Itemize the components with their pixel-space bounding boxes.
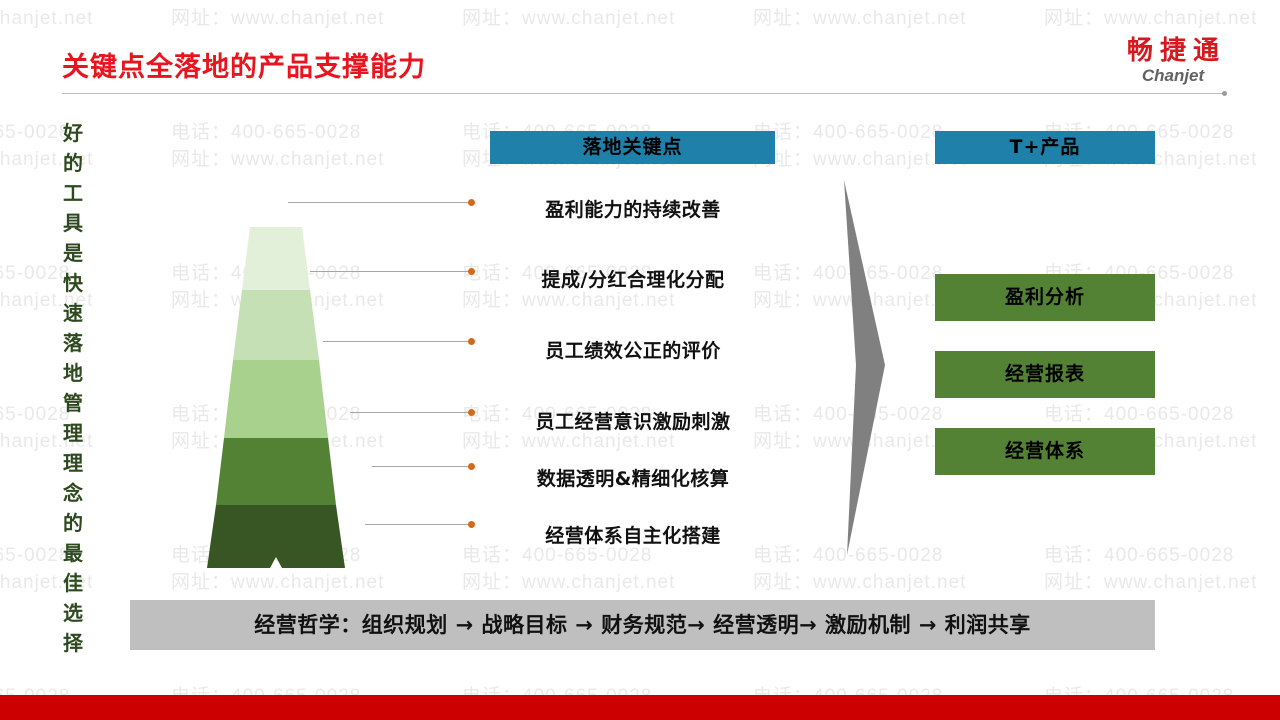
slide-content: 关键点全落地的产品支撑能力 畅捷通 Chanjet 好的工具是快速落地管理理念的… xyxy=(0,0,1280,720)
vertical-caption-char-16: 佳 xyxy=(60,568,86,598)
vertical-caption-char-9: 地 xyxy=(60,358,86,388)
product-box-2: 经营报表 xyxy=(935,351,1155,398)
vertical-caption-char-2: 的 xyxy=(60,148,86,178)
vertical-caption-char-17: 选 xyxy=(60,598,86,628)
bottom-red-bar xyxy=(0,695,1280,720)
connector-line-4 xyxy=(350,412,472,413)
connector-line-1 xyxy=(288,202,472,203)
pyramid-band-5 xyxy=(207,505,345,568)
slide-canvas: 电话：400-665-0028网址：www.chanjet.net电话：400-… xyxy=(0,0,1280,720)
title-divider xyxy=(62,93,1224,94)
logo-cn-text: 畅捷通 xyxy=(1088,36,1258,66)
arrow-shape xyxy=(844,180,885,555)
chanjet-logo: 畅捷通 Chanjet xyxy=(1088,36,1258,86)
vertical-caption-char-1: 好 xyxy=(60,118,86,148)
key-point-4: 员工经营意识激励刺激 xyxy=(488,407,778,434)
pyramid-band-1 xyxy=(242,227,310,290)
flow-arrow xyxy=(820,180,930,580)
connector-dot-4 xyxy=(468,409,475,416)
vertical-caption-char-8: 落 xyxy=(60,328,86,358)
vertical-caption-char-3: 工 xyxy=(60,178,86,208)
connector-line-6 xyxy=(365,524,472,525)
product-box-3: 经营体系 xyxy=(935,428,1155,475)
connector-dot-6 xyxy=(468,521,475,528)
pyramid-band-2 xyxy=(233,290,319,360)
key-point-3: 员工绩效公正的评价 xyxy=(488,336,778,363)
vertical-caption-char-4: 具 xyxy=(60,208,86,238)
vertical-caption-char-13: 念 xyxy=(60,478,86,508)
vertical-caption-char-10: 管 xyxy=(60,388,86,418)
flow-arrow-svg xyxy=(820,180,930,580)
pyramid-bands xyxy=(207,227,345,568)
product-box-1: 盈利分析 xyxy=(935,274,1155,321)
page-title: 关键点全落地的产品支撑能力 xyxy=(62,45,426,84)
vertical-caption-char-6: 快 xyxy=(60,268,86,298)
connector-line-2 xyxy=(310,271,472,272)
vertical-caption-char-7: 速 xyxy=(60,298,86,328)
philosophy-bar: 经营哲学：组织规划 → 战略目标 → 财务规范→ 经营透明→ 激励机制 → 利润… xyxy=(130,600,1155,650)
vertical-caption-char-5: 是 xyxy=(60,238,86,268)
key-point-2: 提成/分红合理化分配 xyxy=(488,265,778,292)
vertical-caption: 好的工具是快速落地管理理念的最佳选择 xyxy=(60,118,86,658)
vertical-caption-char-15: 最 xyxy=(60,538,86,568)
connector-dot-5 xyxy=(468,463,475,470)
pyramid-band-4 xyxy=(216,438,336,505)
connector-dot-1 xyxy=(468,199,475,206)
pyramid-band-3 xyxy=(224,360,328,438)
connector-line-3 xyxy=(323,341,472,342)
header-key-points: 落地关键点 xyxy=(490,131,775,164)
connector-dot-3 xyxy=(468,338,475,345)
key-point-5: 数据透明&精细化核算 xyxy=(488,464,778,491)
pyramid-diagram xyxy=(150,220,430,570)
key-point-1: 盈利能力的持续改善 xyxy=(488,195,778,222)
vertical-caption-char-18: 择 xyxy=(60,628,86,658)
key-point-6: 经营体系自主化搭建 xyxy=(488,521,778,548)
pyramid-svg xyxy=(150,220,430,570)
connector-line-5 xyxy=(372,466,472,467)
vertical-caption-char-12: 理 xyxy=(60,448,86,478)
vertical-caption-char-11: 理 xyxy=(60,418,86,448)
logo-en-text: Chanjet xyxy=(1088,66,1258,86)
header-products: T+产品 xyxy=(935,131,1155,164)
vertical-caption-char-14: 的 xyxy=(60,508,86,538)
connector-dot-2 xyxy=(468,268,475,275)
